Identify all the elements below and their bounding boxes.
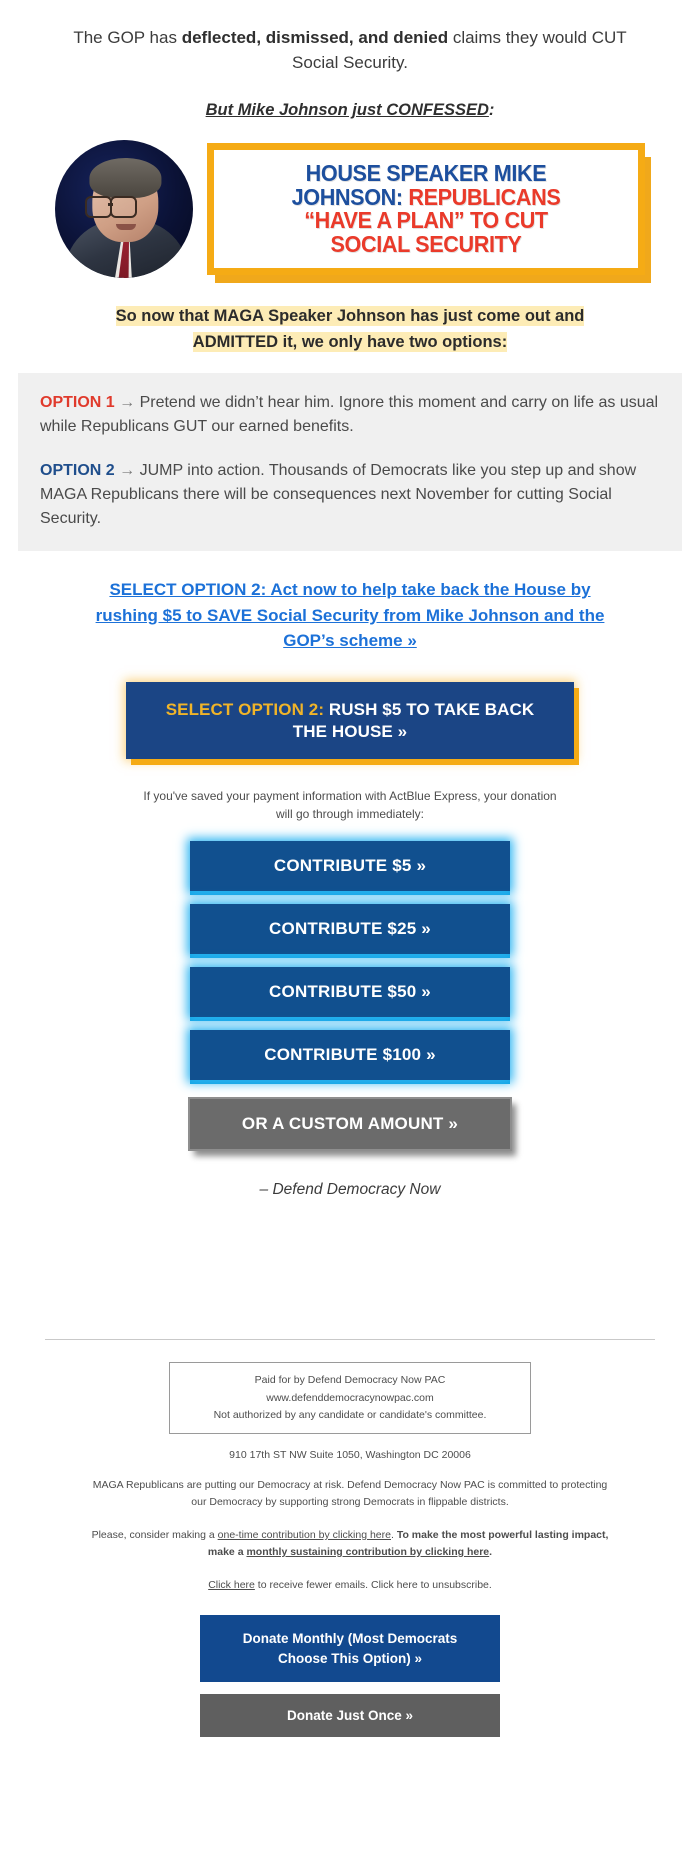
headline-line-1: HOUSE SPEAKER MIKE: [306, 162, 547, 185]
footer-divider: [45, 1339, 655, 1340]
actblue-note-line-2: will go through immediately:: [276, 807, 424, 821]
headline-line-3: “HAVE A PLAN” TO CUT: [304, 209, 548, 232]
mike-johnson-portrait-image: [55, 140, 193, 278]
portrait-hair: [89, 158, 161, 198]
contribute-50-button[interactable]: CONTRIBUTE $50 »: [190, 967, 510, 1017]
portrait-container: [55, 140, 193, 278]
one-time-contribution-link[interactable]: one-time contribution by clicking here: [218, 1529, 391, 1541]
donate-monthly-button[interactable]: Donate Monthly (Most Democrats Choose Th…: [200, 1615, 500, 1682]
contribute-100-button[interactable]: CONTRIBUTE $100 »: [190, 1030, 510, 1080]
footer-ask-bold-after: .: [489, 1546, 492, 1558]
intro-lead-bold: deflected, dismissed, and denied: [182, 28, 448, 47]
footer-ask: Please, consider making a one-time contr…: [90, 1527, 610, 1561]
highlight-statement: So now that MAGA Speaker Johnson has jus…: [0, 304, 700, 355]
footer-donate-buttons: Donate Monthly (Most Democrats Choose Th…: [0, 1615, 700, 1763]
portrait-mouth: [116, 224, 136, 230]
headline-card: HOUSE SPEAKER MIKE JOHNSON: REPUBLICANS …: [207, 143, 645, 275]
headline-line-2b: REPUBLICANS: [408, 184, 560, 210]
intro-paragraph: The GOP has deflected, dismissed, and de…: [0, 0, 700, 75]
paid-for-by-box: Paid for by Defend Democracy Now PAC www…: [169, 1362, 531, 1434]
options-box: OPTION 1 → Pretend we didn’t hear him. I…: [18, 373, 682, 551]
donate-monthly-line-2: Choose This Option) »: [278, 1651, 422, 1666]
signature: – Defend Democracy Now: [0, 1181, 700, 1199]
headline-line-2: JOHNSON: REPUBLICANS: [292, 186, 561, 209]
footer-disclaimer-line-1: MAGA Republicans are putting our Democra…: [93, 1479, 558, 1491]
select-option-2-link-block: SELECT OPTION 2: Act now to help take ba…: [85, 577, 615, 654]
confessed-text: But Mike Johnson just CONFESSED: [206, 101, 489, 119]
email-page: The GOP has deflected, dismissed, and de…: [0, 0, 700, 1763]
bottom-spacer: [0, 1199, 700, 1339]
paid-for-line-3: Not authorized by any candidate or candi…: [180, 1407, 520, 1424]
contribute-25-button[interactable]: CONTRIBUTE $25 »: [190, 904, 510, 954]
cta-gold-text: SELECT OPTION 2:: [166, 700, 329, 719]
donation-amount-buttons: CONTRIBUTE $5 » CONTRIBUTE $25 » CONTRIB…: [0, 841, 700, 1151]
footer-unsubscribe-text: to receive fewer emails. Click here to u…: [255, 1579, 492, 1591]
headline-card-text: HOUSE SPEAKER MIKE JOHNSON: REPUBLICANS …: [220, 143, 632, 275]
footer-ask-before: Please, consider making a: [92, 1529, 218, 1541]
donate-monthly-line-1: Donate Monthly (Most Democrats: [243, 1631, 458, 1646]
option-2-arrow: →: [115, 462, 140, 479]
confessed-colon: :: [489, 101, 495, 119]
monthly-sustaining-contribution-link[interactable]: monthly sustaining contribution by click…: [246, 1546, 489, 1558]
paid-for-line-1: Paid for by Defend Democracy Now PAC: [180, 1372, 520, 1389]
cta-white-text: RUSH $5 TO TAKE BACK THE HOUSE »: [293, 700, 535, 741]
option-1-arrow: →: [115, 394, 140, 411]
headline-line-2a: JOHNSON:: [292, 184, 409, 210]
intro-lead-before: The GOP has: [73, 28, 181, 47]
fewer-emails-link[interactable]: Click here: [208, 1579, 255, 1591]
select-option-2-link[interactable]: SELECT OPTION 2: Act now to help take ba…: [96, 580, 605, 650]
donate-once-button[interactable]: Donate Just Once »: [200, 1694, 500, 1737]
rush-5-take-back-house-button[interactable]: SELECT OPTION 2: RUSH $5 TO TAKE BACK TH…: [126, 682, 574, 760]
paid-for-line-2: www.defenddemocracynowpac.com: [180, 1390, 520, 1407]
glasses-right-icon: [110, 196, 137, 218]
glasses-bridge-icon: [108, 203, 113, 205]
option-2-paragraph: OPTION 2 → JUMP into action. Thousands o…: [40, 459, 660, 531]
hero-banner: HOUSE SPEAKER MIKE JOHNSON: REPUBLICANS …: [0, 140, 700, 278]
highlight-line-2: ADMITTED it, we only have two options:: [193, 332, 507, 352]
confessed-line: But Mike Johnson just CONFESSED:: [0, 101, 700, 120]
custom-amount-button[interactable]: OR A CUSTOM AMOUNT »: [188, 1097, 512, 1151]
glasses-left-icon: [85, 196, 112, 218]
primary-cta-wrapper: SELECT OPTION 2: RUSH $5 TO TAKE BACK TH…: [0, 682, 700, 760]
actblue-express-note: If you've saved your payment information…: [135, 787, 565, 823]
headline-line-4: SOCIAL SECURITY: [331, 233, 522, 256]
mailing-address: 910 17th ST NW Suite 1050, Washington DC…: [0, 1449, 700, 1461]
option-1-paragraph: OPTION 1 → Pretend we didn’t hear him. I…: [40, 391, 660, 439]
actblue-note-line-1: If you've saved your payment information…: [143, 789, 556, 803]
footer-unsubscribe: Click here to receive fewer emails. Clic…: [90, 1577, 610, 1594]
option-2-label: OPTION 2: [40, 462, 115, 479]
highlight-line-1: So now that MAGA Speaker Johnson has jus…: [116, 306, 585, 326]
footer-disclaimer: MAGA Republicans are putting our Democra…: [90, 1477, 610, 1511]
option-1-label: OPTION 1: [40, 394, 115, 411]
contribute-5-button[interactable]: CONTRIBUTE $5 »: [190, 841, 510, 891]
